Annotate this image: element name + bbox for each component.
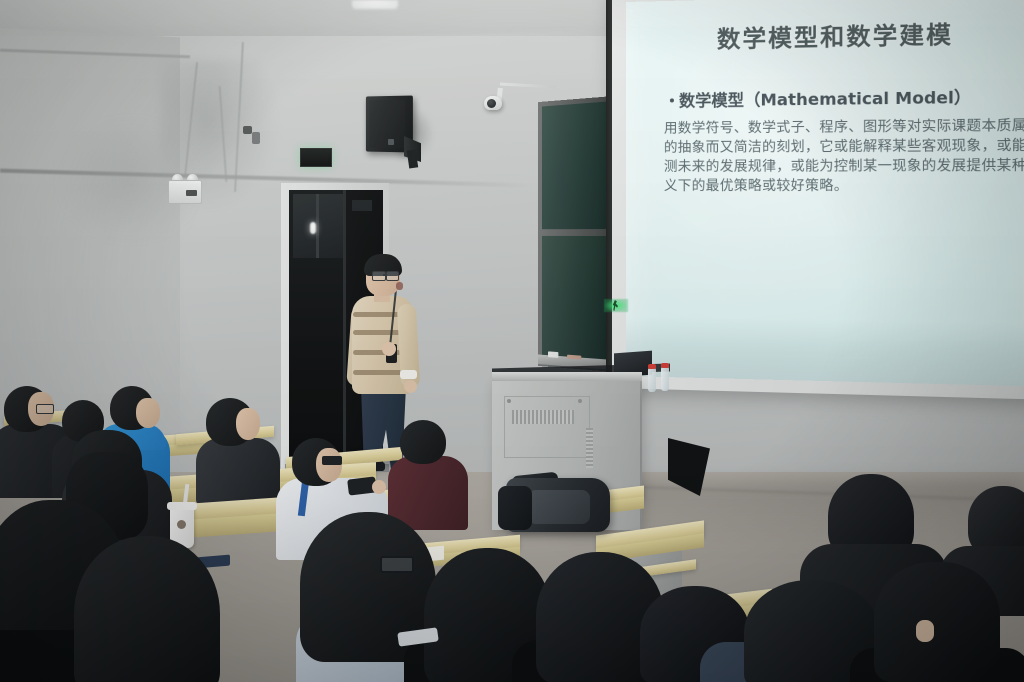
student-head-foreground — [874, 562, 1000, 682]
lecturer-left-hand — [382, 342, 396, 356]
lecturer-right-hand — [404, 380, 417, 393]
glasses-icon — [372, 271, 386, 281]
glasses-icon — [386, 271, 399, 281]
cup-logo — [177, 520, 186, 529]
podium-vent-grille — [512, 410, 574, 424]
lecturer-shirt-cuff — [400, 370, 417, 379]
lecturer-mouth — [396, 282, 403, 290]
student-face — [136, 398, 160, 428]
student-head-foreground — [74, 536, 220, 682]
slide-bullet-heading: 数学模型（Mathematical Model） — [670, 82, 1024, 111]
screen-bottom-shading — [626, 316, 1024, 387]
slide-body-text: 用数学符号、数学式子、程序、图形等对实际课题本质属性的抽象而又简洁的刻划，它或能… — [664, 116, 1024, 196]
water-bottle — [648, 368, 656, 392]
junction-label — [186, 190, 197, 196]
speaker-led — [388, 139, 394, 145]
glasses-icon — [36, 404, 54, 414]
podium-access-panel — [504, 396, 590, 458]
bottle-cap — [661, 363, 669, 368]
emergency-exit-sign — [300, 148, 332, 167]
blackboard — [538, 96, 614, 372]
student-face — [316, 448, 342, 482]
student-head — [400, 420, 446, 464]
backpack-shadow-side — [498, 486, 532, 530]
blackboard-shading — [538, 96, 614, 372]
door-mullion — [316, 194, 319, 258]
cup-lid — [167, 502, 197, 510]
backpack-flap — [528, 490, 590, 524]
student-face — [236, 408, 260, 440]
bottle-cap — [648, 364, 656, 369]
door-sign-plate — [352, 200, 372, 211]
camera-lens-icon — [487, 99, 496, 108]
door-leaf-edge — [343, 190, 346, 471]
lecture-hall-photo: 数学模型和数学建模 数学模型（Mathematical Model） 用数学符号… — [0, 0, 1024, 682]
podium-screw — [507, 399, 511, 403]
glasses-icon — [380, 556, 414, 573]
ceiling-light — [352, 0, 398, 9]
glasses-icon — [322, 456, 342, 465]
wall-anchor — [252, 132, 260, 144]
bullet-dot — [670, 98, 674, 102]
slide-bullet-text: 数学模型（Mathematical Model） — [679, 87, 971, 110]
glasses-bridge — [383, 274, 387, 276]
student-hand — [372, 480, 386, 494]
wall-anchor — [243, 126, 252, 134]
podium-top-surface — [492, 372, 642, 381]
podium-side-vent — [586, 428, 593, 468]
student-body — [196, 438, 280, 504]
corridor-light-reflection — [310, 222, 316, 234]
projection-screen: 数学模型和数学建模 数学模型（Mathematical Model） 用数学符号… — [626, 0, 1024, 387]
water-bottle — [661, 367, 669, 391]
podium-screw — [578, 399, 582, 403]
student-hand — [916, 620, 934, 642]
